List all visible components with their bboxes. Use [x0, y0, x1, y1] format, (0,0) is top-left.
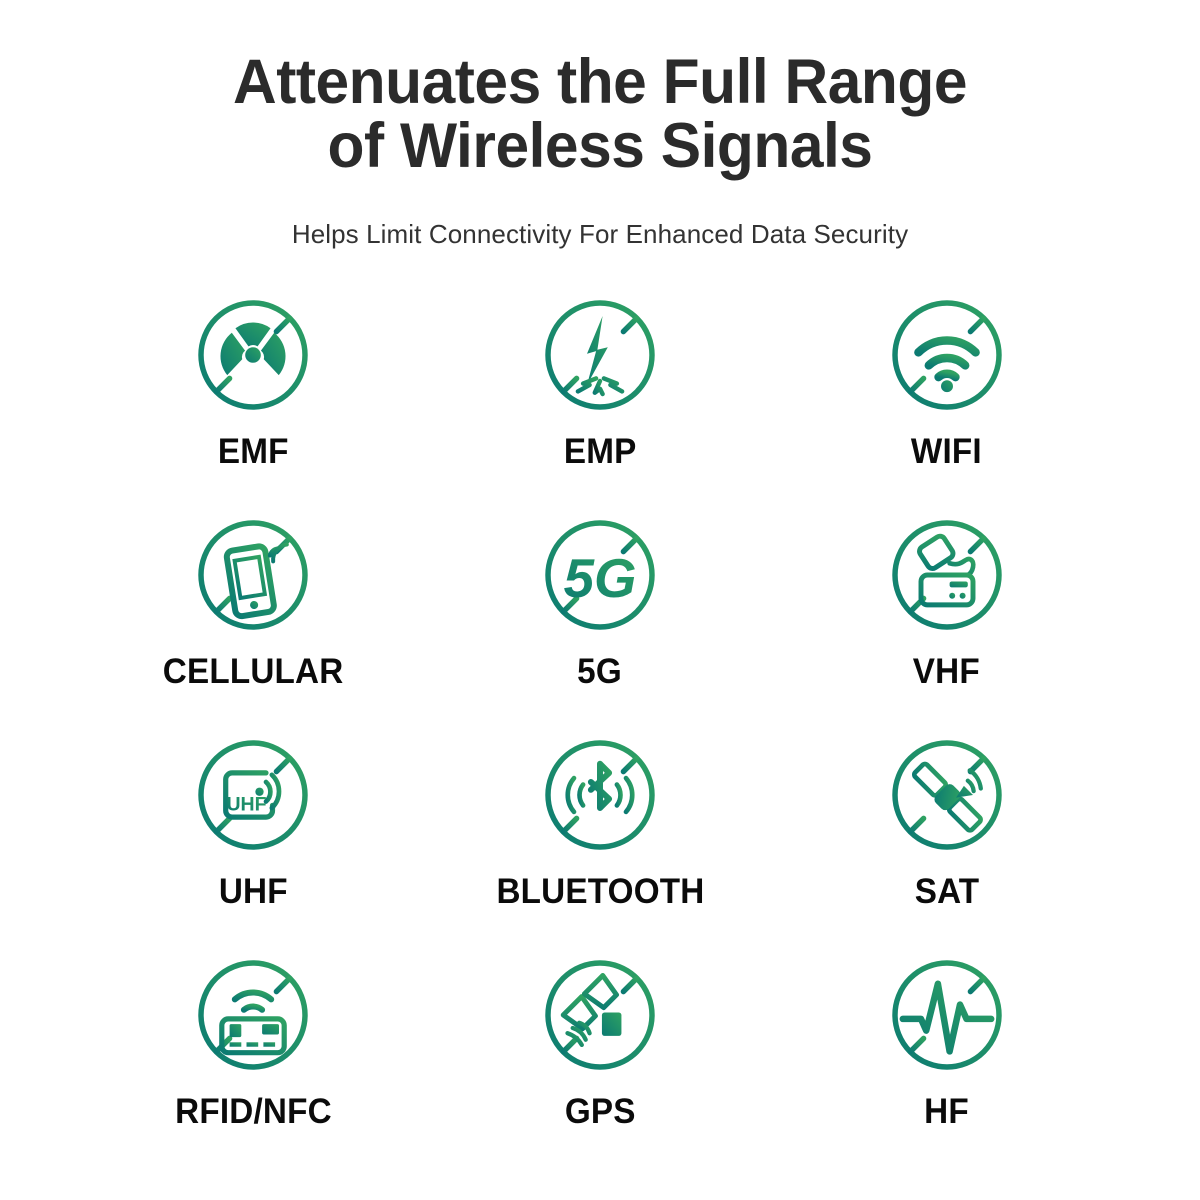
waveform-pulse-icon — [882, 950, 1012, 1080]
signal-label: WIFI — [911, 432, 982, 472]
uhf-transmitter-icon: UHF — [188, 730, 318, 860]
signal-item-rfid-nfc: RFID/NFC — [80, 950, 427, 1170]
signal-label: RFID/NFC — [175, 1092, 332, 1132]
signal-label: UHF — [219, 872, 288, 912]
lightning-bolt-icon — [535, 290, 665, 420]
radiation-icon — [188, 290, 318, 420]
signal-label: EMP — [564, 432, 637, 472]
wifi-icon — [882, 290, 1012, 420]
contactless-card-icon — [188, 950, 318, 1080]
signal-label: GPS — [565, 1092, 636, 1132]
signal-label: VHF — [913, 652, 980, 692]
signal-label: CELLULAR — [163, 652, 344, 692]
page-title-line-1: Attenuates the Full Range — [178, 50, 1023, 114]
signal-item-sat: SAT — [773, 730, 1120, 950]
page-title: Attenuates the Full Range of Wireless Si… — [178, 50, 1023, 179]
bluetooth-icon — [535, 730, 665, 860]
signal-item-hf: HF — [773, 950, 1120, 1170]
satellite-dish-icon — [882, 730, 1012, 860]
signal-label: SAT — [914, 872, 979, 912]
signal-item-emp: EMP — [427, 290, 774, 510]
uhf-glyph: UHF — [227, 793, 267, 815]
signal-item-bluetooth: BLUETOOTH — [427, 730, 774, 950]
signal-item-vhf: VHF — [773, 510, 1120, 730]
signal-item-gps: GPS — [427, 950, 774, 1170]
signal-item-uhf: UHF UHF — [80, 730, 427, 950]
signal-label: 5G — [578, 652, 623, 692]
signal-label: BLUETOOTH — [496, 872, 704, 912]
five-g-glyph: 5G — [564, 548, 637, 609]
radio-transceiver-icon — [882, 510, 1012, 640]
signal-item-5g: 5G 5G — [427, 510, 774, 730]
signal-item-wifi: WIFI — [773, 290, 1120, 510]
page-subtitle: Helps Limit Connectivity For Enhanced Da… — [0, 219, 1200, 250]
wireless-signal-attenuation-infographic: Attenuates the Full Range of Wireless Si… — [0, 0, 1200, 1200]
signal-item-cellular: CELLULAR — [80, 510, 427, 730]
signal-icon-grid: EMF — [80, 290, 1120, 1170]
header: Attenuates the Full Range of Wireless Si… — [0, 0, 1200, 250]
five-g-text-icon: 5G — [535, 510, 665, 640]
page-title-line-2: of Wireless Signals — [178, 114, 1023, 178]
gps-satellite-icon — [535, 950, 665, 1080]
signal-label: HF — [924, 1092, 969, 1132]
signal-label: EMF — [218, 432, 289, 472]
mobile-phone-signal-icon — [188, 510, 318, 640]
signal-item-emf: EMF — [80, 290, 427, 510]
